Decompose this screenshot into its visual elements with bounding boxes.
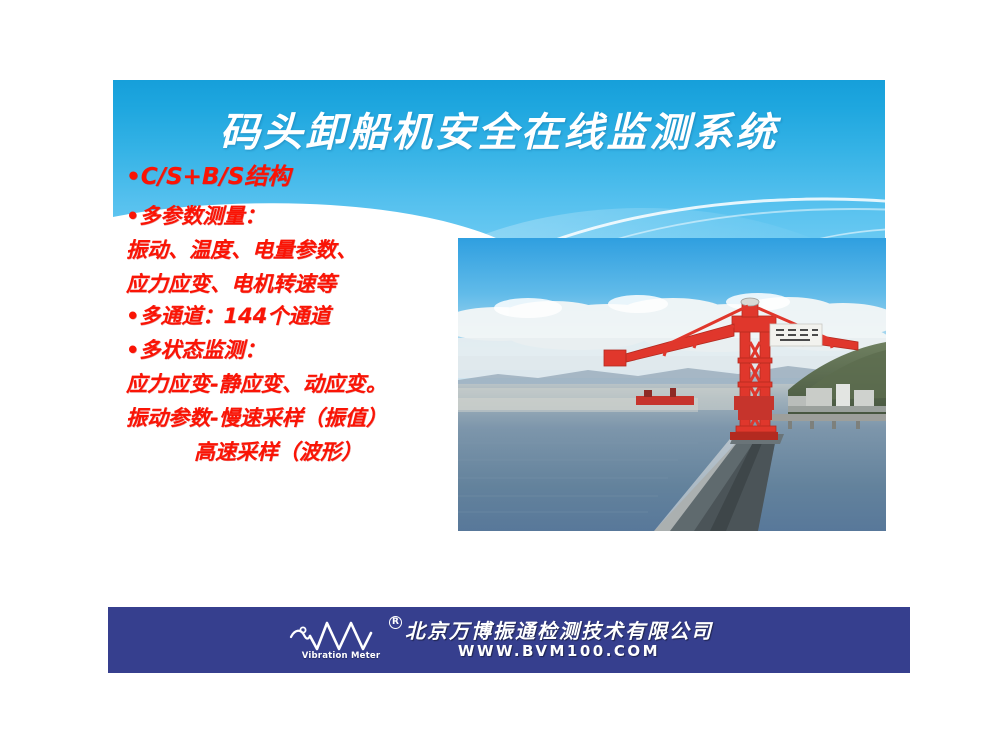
company-website: WWW.BVM100.COM (458, 644, 660, 660)
footer-text-block: 北京万博振通检测技术有限公司 WWW.BVM100.COM (405, 621, 713, 660)
waveform-glyph (289, 619, 393, 653)
footer-content: R Vibration Meter 北京万博振通检测技术有限公司 WWW.BVM… (289, 619, 713, 661)
bullet-param-list-1: 振动、温度、电量参数、 (126, 240, 466, 261)
bullet-param-list-2: 应力应变、电机转速等 (126, 274, 466, 295)
bullet-state-vib-slow: 振动参数-慢速采样（振值） (126, 408, 466, 429)
bullet-state-vib-fast: 高速采样（波形） (126, 442, 466, 463)
vibration-waveform-logo-icon: R Vibration Meter (289, 619, 393, 661)
company-name: 北京万博振通检测技术有限公司 (405, 621, 713, 642)
logo-caption: Vibration Meter (302, 651, 380, 661)
bullet-list: •C/S+B/S结构 •多参数测量： 振动、温度、电量参数、 应力应变、电机转速… (126, 166, 466, 463)
bullet-multi-state: •多状态监测： (126, 340, 466, 361)
bullet-state-strain: 应力应变-静应变、动应变。 (126, 374, 466, 395)
port-ship-unloader-photo (458, 238, 886, 531)
page-title: 码头卸船机安全在线监测系统 (113, 100, 885, 158)
bullet-multi-param: •多参数测量： (126, 206, 466, 227)
bullet-multi-channel: •多通道：144个通道 (126, 306, 466, 327)
registered-trademark-icon: R (389, 616, 402, 629)
footer-bar: R Vibration Meter 北京万博振通检测技术有限公司 WWW.BVM… (108, 607, 910, 673)
slide-canvas: 码头卸船机安全在线监测系统 •C/S+B/S结构 •多参数测量： 振动、温度、电… (0, 0, 1000, 750)
bullet-structure: •C/S+B/S结构 (126, 166, 466, 189)
